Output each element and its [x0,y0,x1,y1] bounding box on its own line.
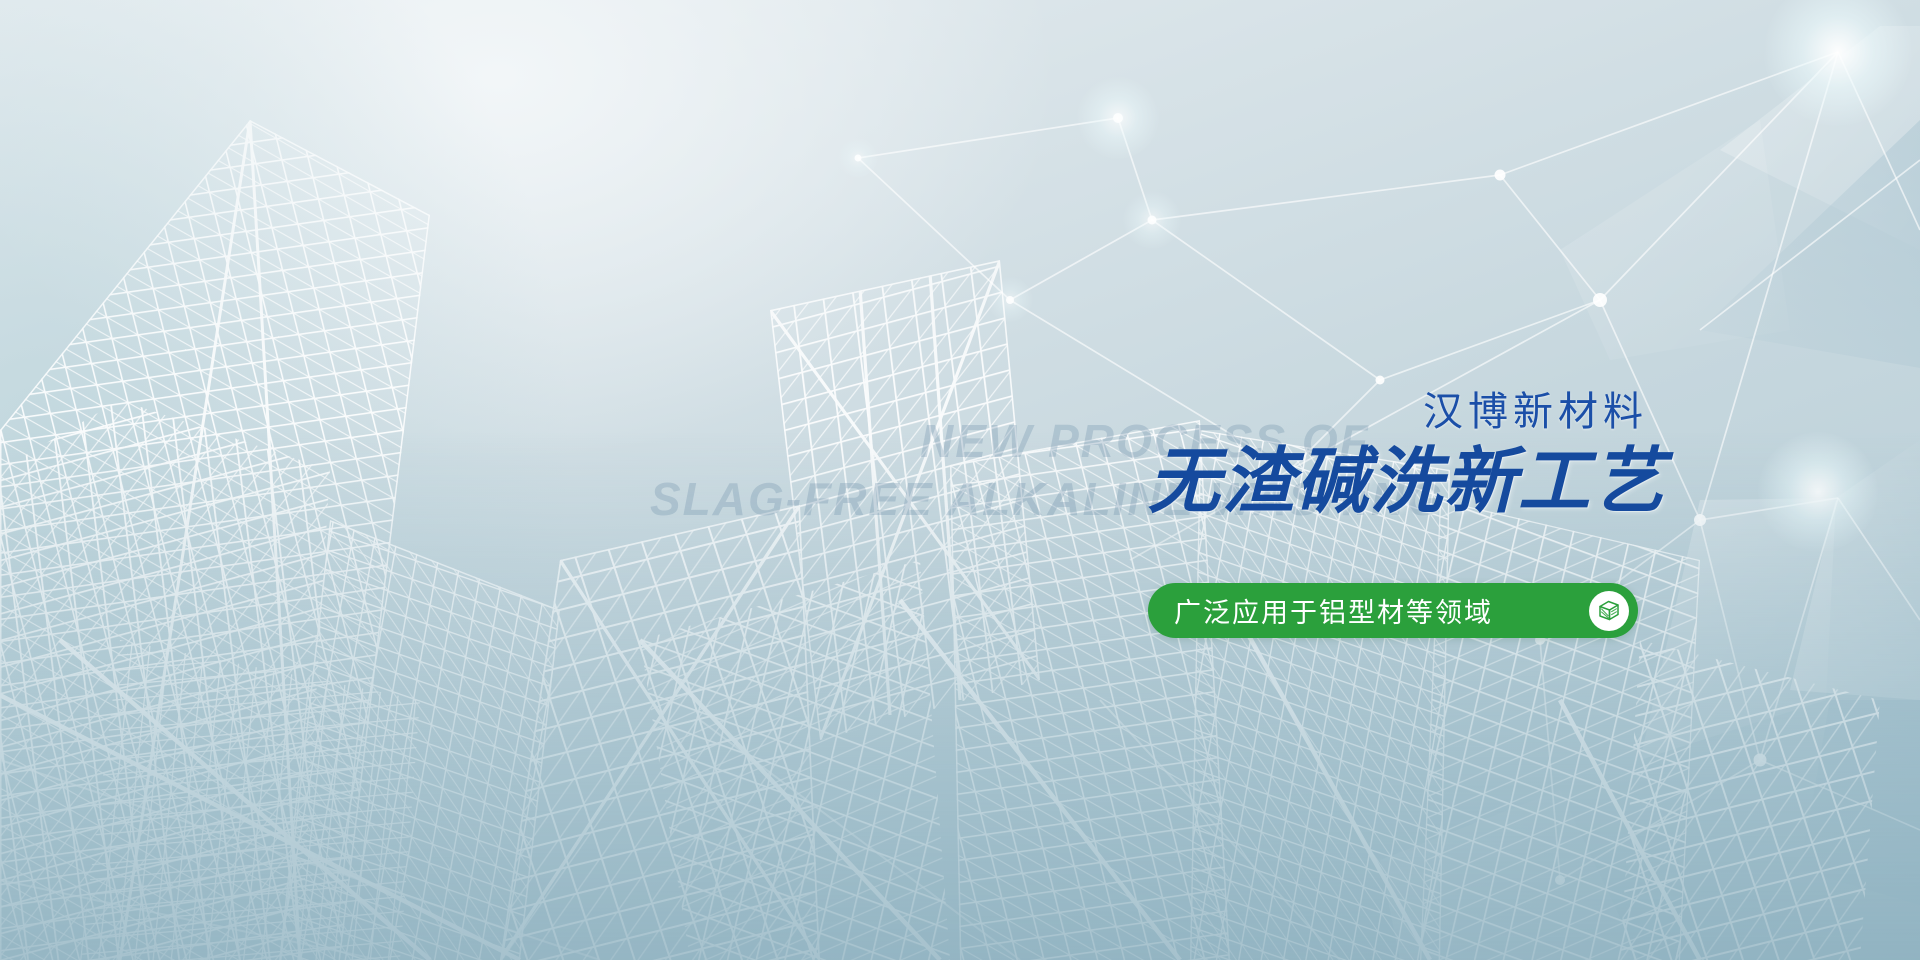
hero-banner: NEW PROCESS OF SLAG-FREE ALKALINE WASHIN… [0,0,1920,960]
aluminium-profile-icon [1589,591,1629,631]
headline-block: 汉博新材料 无渣碱洗新工艺 [1148,392,1648,519]
application-scope-label: 广泛应用于铝型材等领域 [1174,591,1493,630]
brand-title: 汉博新材料 [1148,392,1648,432]
main-title: 无渣碱洗新工艺 [1148,446,1648,519]
application-scope-pill[interactable]: 广泛应用于铝型材等领域 [1148,583,1638,638]
